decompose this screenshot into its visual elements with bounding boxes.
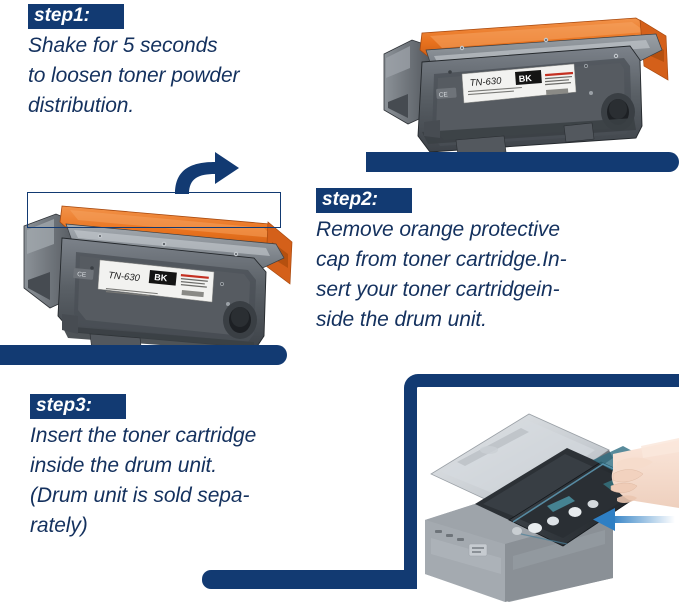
step3-block: step3: Insert the toner cartridge inside… — [30, 394, 380, 541]
instruction-poster: step1: Shake for 5 seconds to loosen ton… — [0, 0, 679, 602]
step2-block: step2: Remove orange protective cap from… — [316, 188, 666, 335]
step2-badge: step2: — [316, 188, 412, 213]
orange-cap-highlight-box — [27, 192, 281, 228]
svg-text:CE: CE — [77, 271, 87, 279]
step1-text: Shake for 5 seconds to loosen toner powd… — [28, 31, 358, 121]
label-color-code-text: BK — [518, 73, 532, 84]
divider-bar-right-top — [366, 152, 679, 172]
step3-text: Insert the toner cartridge inside the dr… — [30, 421, 380, 541]
ce-mark-2: CE — [73, 268, 94, 280]
step1-block: step1: Shake for 5 seconds to loosen ton… — [28, 4, 358, 121]
step3-badge: step3: — [30, 394, 126, 419]
divider-bar-bottom — [202, 570, 417, 589]
cartridge-svg: TN-630 BK CE — [378, 6, 678, 158]
printer-photo-svg — [417, 388, 679, 602]
step1-badge: step1: — [28, 4, 124, 29]
ce-mark: CE — [436, 88, 457, 99]
cartridge-illustration-step1: TN-630 BK CE — [378, 6, 678, 158]
curved-arrow-right-icon — [163, 148, 243, 196]
divider-bar-left-middle — [0, 345, 287, 365]
svg-text:BK: BK — [154, 272, 168, 283]
svg-text:CE: CE — [439, 91, 449, 99]
step2-text: Remove orange protective cap from toner … — [316, 215, 666, 335]
photo-frame-left-edge — [404, 395, 417, 583]
printer-insert-photo — [417, 388, 679, 602]
